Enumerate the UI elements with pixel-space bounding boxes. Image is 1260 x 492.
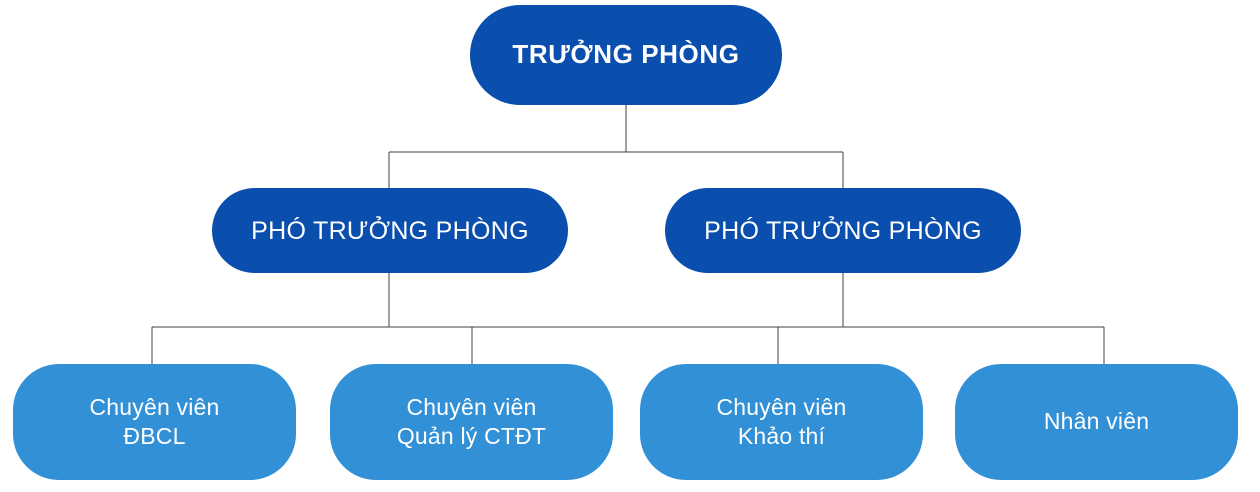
node-truong-phong[interactable]: TRƯỞNG PHÒNG bbox=[470, 5, 782, 105]
node-nhan-vien[interactable]: Nhân viên bbox=[955, 364, 1238, 480]
node-chuyen-vien-khao-thi[interactable]: Chuyên viên Khảo thí bbox=[640, 364, 923, 480]
node-pho-truong-phong-1[interactable]: PHÓ TRƯỞNG PHÒNG bbox=[212, 188, 568, 273]
node-chuyen-vien-dbcl-label: Chuyên viên ĐBCL bbox=[89, 393, 219, 452]
node-nhan-vien-label: Nhân viên bbox=[1044, 407, 1149, 436]
node-pho-truong-phong-1-label: PHÓ TRƯỞNG PHÒNG bbox=[251, 215, 529, 247]
node-chuyen-vien-quan-ly-ctdt[interactable]: Chuyên viên Quản lý CTĐT bbox=[330, 364, 613, 480]
node-pho-truong-phong-2-label: PHÓ TRƯỞNG PHÒNG bbox=[704, 215, 982, 247]
node-pho-truong-phong-2[interactable]: PHÓ TRƯỞNG PHÒNG bbox=[665, 188, 1021, 273]
node-chuyen-vien-dbcl[interactable]: Chuyên viên ĐBCL bbox=[13, 364, 296, 480]
node-chuyen-vien-khao-thi-label: Chuyên viên Khảo thí bbox=[716, 393, 846, 452]
org-chart-canvas: TRƯỞNG PHÒNG PHÓ TRƯỞNG PHÒNG PHÓ TRƯỞNG… bbox=[0, 0, 1260, 492]
node-truong-phong-label: TRƯỞNG PHÒNG bbox=[512, 38, 739, 71]
node-chuyen-vien-quan-ly-ctdt-label: Chuyên viên Quản lý CTĐT bbox=[397, 393, 546, 452]
